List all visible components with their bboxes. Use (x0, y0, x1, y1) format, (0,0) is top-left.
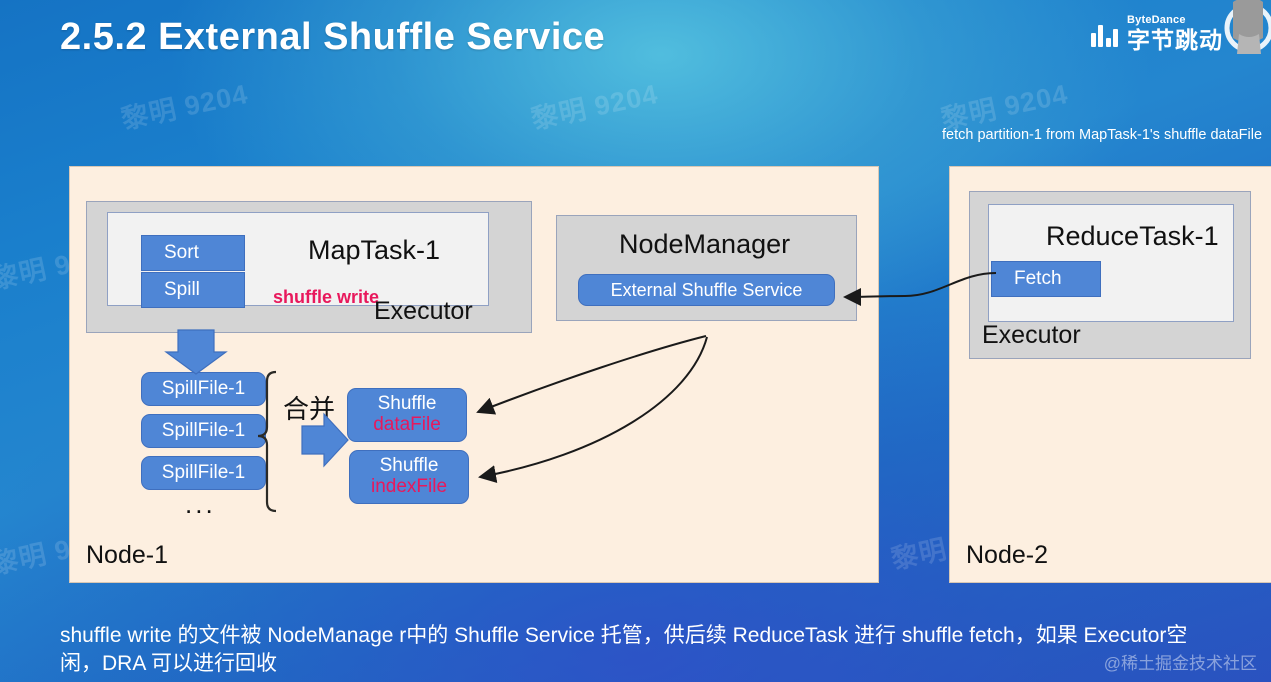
background-watermark: 黎明 9204 (527, 72, 661, 137)
shuffle-write-label: shuffle write (273, 287, 379, 308)
brand-name-en: ByteDance (1127, 15, 1223, 26)
slide-canvas: 黎明 9204 黎明 9204 黎明 9204 黎明 9204 黎明 9204 … (0, 0, 1271, 682)
node2-executor-label: Executor (982, 321, 1081, 350)
fetch-box[interactable]: Fetch (991, 261, 1101, 297)
slide-caption: shuffle write 的文件被 NodeManage r中的 Shuffl… (60, 622, 1210, 677)
brand-name-cn: 字节跳动 (1127, 29, 1223, 52)
maptask-title: MapTask-1 (308, 235, 440, 266)
spillfile-label: SpillFile-1 (162, 420, 245, 442)
presenter-avatar (1215, 0, 1271, 56)
bytedance-logo: ByteDance 字节跳动 (1091, 15, 1224, 52)
node2-panel: Node-2 ReduceTask-1 Fetch Executor (949, 166, 1271, 583)
fetch-label: Fetch (1014, 268, 1062, 290)
node2-label: Node-2 (966, 541, 1048, 570)
background-watermark: 黎明 9204 (117, 72, 251, 137)
node2-executor-box: ReduceTask-1 Fetch Executor (969, 191, 1251, 359)
nodemanager-title: NodeManager (619, 229, 790, 260)
spillfile-label: SpillFile-1 (162, 378, 245, 400)
bytedance-wordmark: ByteDance 字节跳动 (1127, 15, 1223, 52)
shuffle-datafile-line1: Shuffle (378, 394, 437, 415)
stage-sort-label: Sort (164, 242, 199, 264)
fetch-annotation-text: fetch partition-1 from MapTask-1's shuff… (942, 127, 1262, 143)
maptask-box: MapTask-1 Sort Spill shuffle write (107, 212, 489, 306)
merge-label: 合并 (283, 389, 335, 426)
node1-label: Node-1 (86, 541, 168, 570)
page-title: 2.5.2 External Shuffle Service (60, 16, 605, 59)
spillfile-box[interactable]: SpillFile-1 (141, 372, 266, 406)
shuffle-indexfile-line1: Shuffle (380, 456, 439, 477)
spillfile-box[interactable]: SpillFile-1 (141, 456, 266, 490)
spillfile-label: SpillFile-1 (162, 462, 245, 484)
external-shuffle-service-box[interactable]: External Shuffle Service (578, 274, 835, 306)
node1-panel: Node-1 MapTask-1 Sort Spill shuffle writ… (69, 166, 879, 583)
external-shuffle-service-label: External Shuffle Service (611, 280, 803, 301)
community-watermark: @稀土掘金技术社区 (1104, 649, 1257, 674)
spillfile-box[interactable]: SpillFile-1 (141, 414, 266, 448)
node1-executor-label: Executor (374, 297, 473, 326)
node1-executor-box: MapTask-1 Sort Spill shuffle write Execu… (86, 201, 532, 333)
stage-sort-box[interactable]: Sort (141, 235, 245, 271)
shuffle-indexfile-box[interactable]: Shuffle indexFile (349, 450, 469, 504)
reducetask-title: ReduceTask-1 (1046, 221, 1219, 252)
stage-spill-label: Spill (164, 279, 200, 301)
shuffle-datafile-line2: dataFile (373, 415, 441, 436)
bytedance-bars-icon (1091, 21, 1119, 47)
reducetask-box: ReduceTask-1 Fetch (988, 204, 1234, 322)
shuffle-indexfile-line2: indexFile (371, 477, 447, 498)
spillfile-ellipsis: ... (185, 489, 216, 520)
stage-spill-box[interactable]: Spill (141, 272, 245, 308)
nodemanager-box: NodeManager External Shuffle Service (556, 215, 857, 321)
shuffle-datafile-box[interactable]: Shuffle dataFile (347, 388, 467, 442)
